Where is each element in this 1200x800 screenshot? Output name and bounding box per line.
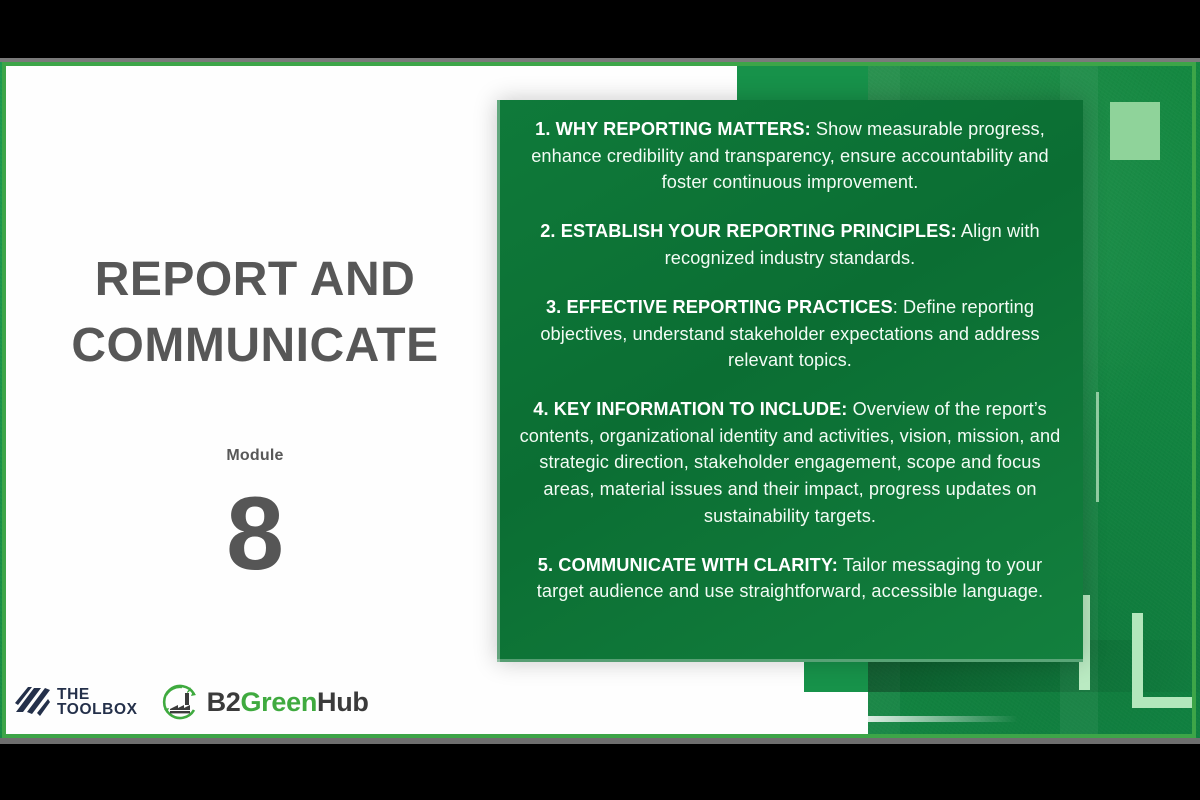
bullet-point: 4. KEY INFORMATION TO INCLUDE: Overview … [515,396,1065,529]
greenhub-part-2: Green [240,687,317,717]
toolbox-line-1: THE [57,687,138,703]
greenhub-part-1: B2 [207,687,241,717]
logo-b2greenhub: B2GreenHub [160,682,369,722]
factory-recycle-icon [160,682,200,722]
module-label: Module [40,447,470,465]
bullet-point: 2. ESTABLISH YOUR REPORTING PRINCIPLES: … [515,218,1065,271]
diagonal-stripes-icon [14,686,50,718]
presentation-slide: REPORT AND COMMUNICATE Module 8 THE TOOL… [0,62,1200,738]
bullet-heading: 2. ESTABLISH YOUR REPORTING PRINCIPLES: [540,221,957,241]
bullet-point: 1. WHY REPORTING MATTERS: Show measurabl… [515,116,1065,196]
letterbox-bottom [0,744,1200,800]
screenshot-stage: REPORT AND COMMUNICATE Module 8 THE TOOL… [0,0,1200,800]
card-edge-left [497,100,500,662]
bullet-heading: 3. EFFECTIVE REPORTING PRACTICES [546,297,893,317]
title-line-1: REPORT AND [40,247,470,313]
page-title: REPORT AND COMMUNICATE [40,247,470,379]
bullet-point: 5. COMMUNICATE WITH CLARITY: Tailor mess… [515,552,1065,605]
module-number: 8 [40,482,470,586]
toolbox-wordmark: THE TOOLBOX [57,687,138,718]
bullet-heading: 1. WHY REPORTING MATTERS: [535,119,811,139]
letterbox-top [0,0,1200,58]
bullet-heading: 5. COMMUNICATE WITH CLARITY: [538,555,838,575]
title-line-2: COMMUNICATE [40,313,470,379]
greenhub-wordmark: B2GreenHub [207,689,369,716]
greenhub-part-3: Hub [317,687,369,717]
logo-row: THE TOOLBOX B2GreenHub [14,682,369,722]
card-edge-bottom [497,659,1083,662]
toolbox-line-2: TOOLBOX [57,702,138,718]
bullet-point: 3. EFFECTIVE REPORTING PRACTICES: Define… [515,294,1065,374]
card-content: 1. WHY REPORTING MATTERS: Show measurabl… [515,116,1065,605]
content-card: 1. WHY REPORTING MATTERS: Show measurabl… [497,100,1083,662]
logo-the-toolbox: THE TOOLBOX [14,686,138,718]
bullet-heading: 4. KEY INFORMATION TO INCLUDE: [533,399,847,419]
